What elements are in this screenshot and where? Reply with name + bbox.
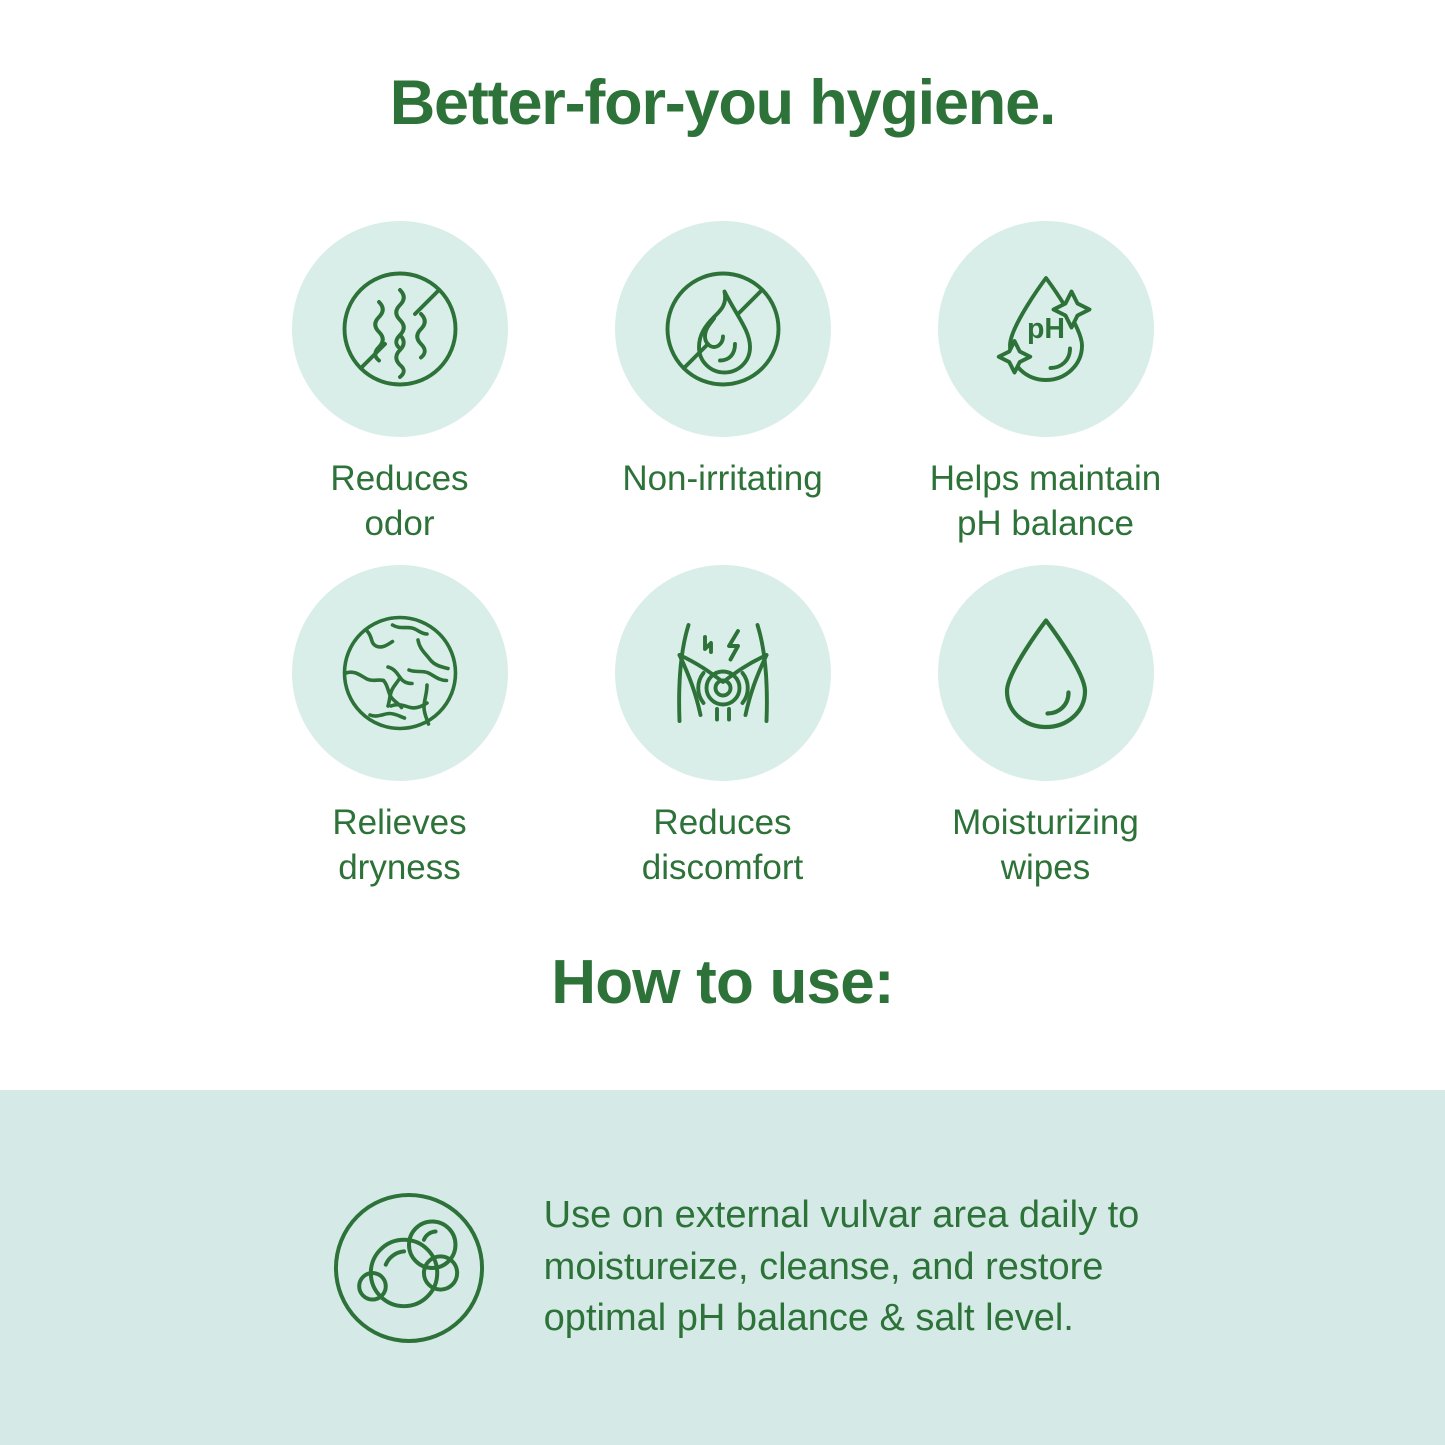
benefit-badge [292, 221, 508, 437]
benefit-badge [615, 221, 831, 437]
ph-text: pH [1027, 313, 1065, 345]
benefits-grid: Reduces odor Non-irritating [0, 221, 1445, 890]
benefit-label: Non-irritating [622, 457, 822, 502]
benefit-badge [292, 565, 508, 781]
pelvic-pain-icon [648, 598, 798, 748]
benefit-badge [938, 565, 1154, 781]
benefit-label: Relieves dryness [332, 801, 466, 891]
benefit-label: Reduces discomfort [642, 801, 803, 891]
benefit-label: Reduces odor [330, 457, 468, 547]
ph-droplet-icon: pH [971, 254, 1121, 404]
how-to-use-heading: How to use: [0, 952, 1445, 1014]
usage-instruction-text: Use on external vulvar area daily to moi… [544, 1190, 1140, 1345]
benefit-item-reduces-discomfort: Reduces discomfort [561, 565, 884, 891]
benefit-item-reduces-odor: Reduces odor [238, 221, 561, 547]
benefit-item-non-irritating: Non-irritating [561, 221, 884, 547]
benefit-item-relieves-dryness: Relieves dryness [238, 565, 561, 891]
no-flame-icon [648, 254, 798, 404]
bubbles-icon [326, 1185, 492, 1351]
benefit-item-moisturizing-wipes: Moisturizing wipes [884, 565, 1207, 891]
infographic-page: Better-for-you hygiene. Reduces od [0, 0, 1445, 1445]
benefit-badge [615, 565, 831, 781]
benefit-label: Moisturizing wipes [952, 801, 1139, 891]
benefit-badge: pH [938, 221, 1154, 437]
water-droplet-icon [971, 598, 1121, 748]
no-odor-icon [325, 254, 475, 404]
page-title: Better-for-you hygiene. [0, 72, 1445, 135]
benefit-label: Helps maintain pH balance [930, 457, 1162, 547]
benefit-item-ph-balance: pH Helps maintain pH balance [884, 221, 1207, 547]
usage-instruction-band: Use on external vulvar area daily to moi… [0, 1090, 1445, 1445]
dry-skin-icon [325, 598, 475, 748]
